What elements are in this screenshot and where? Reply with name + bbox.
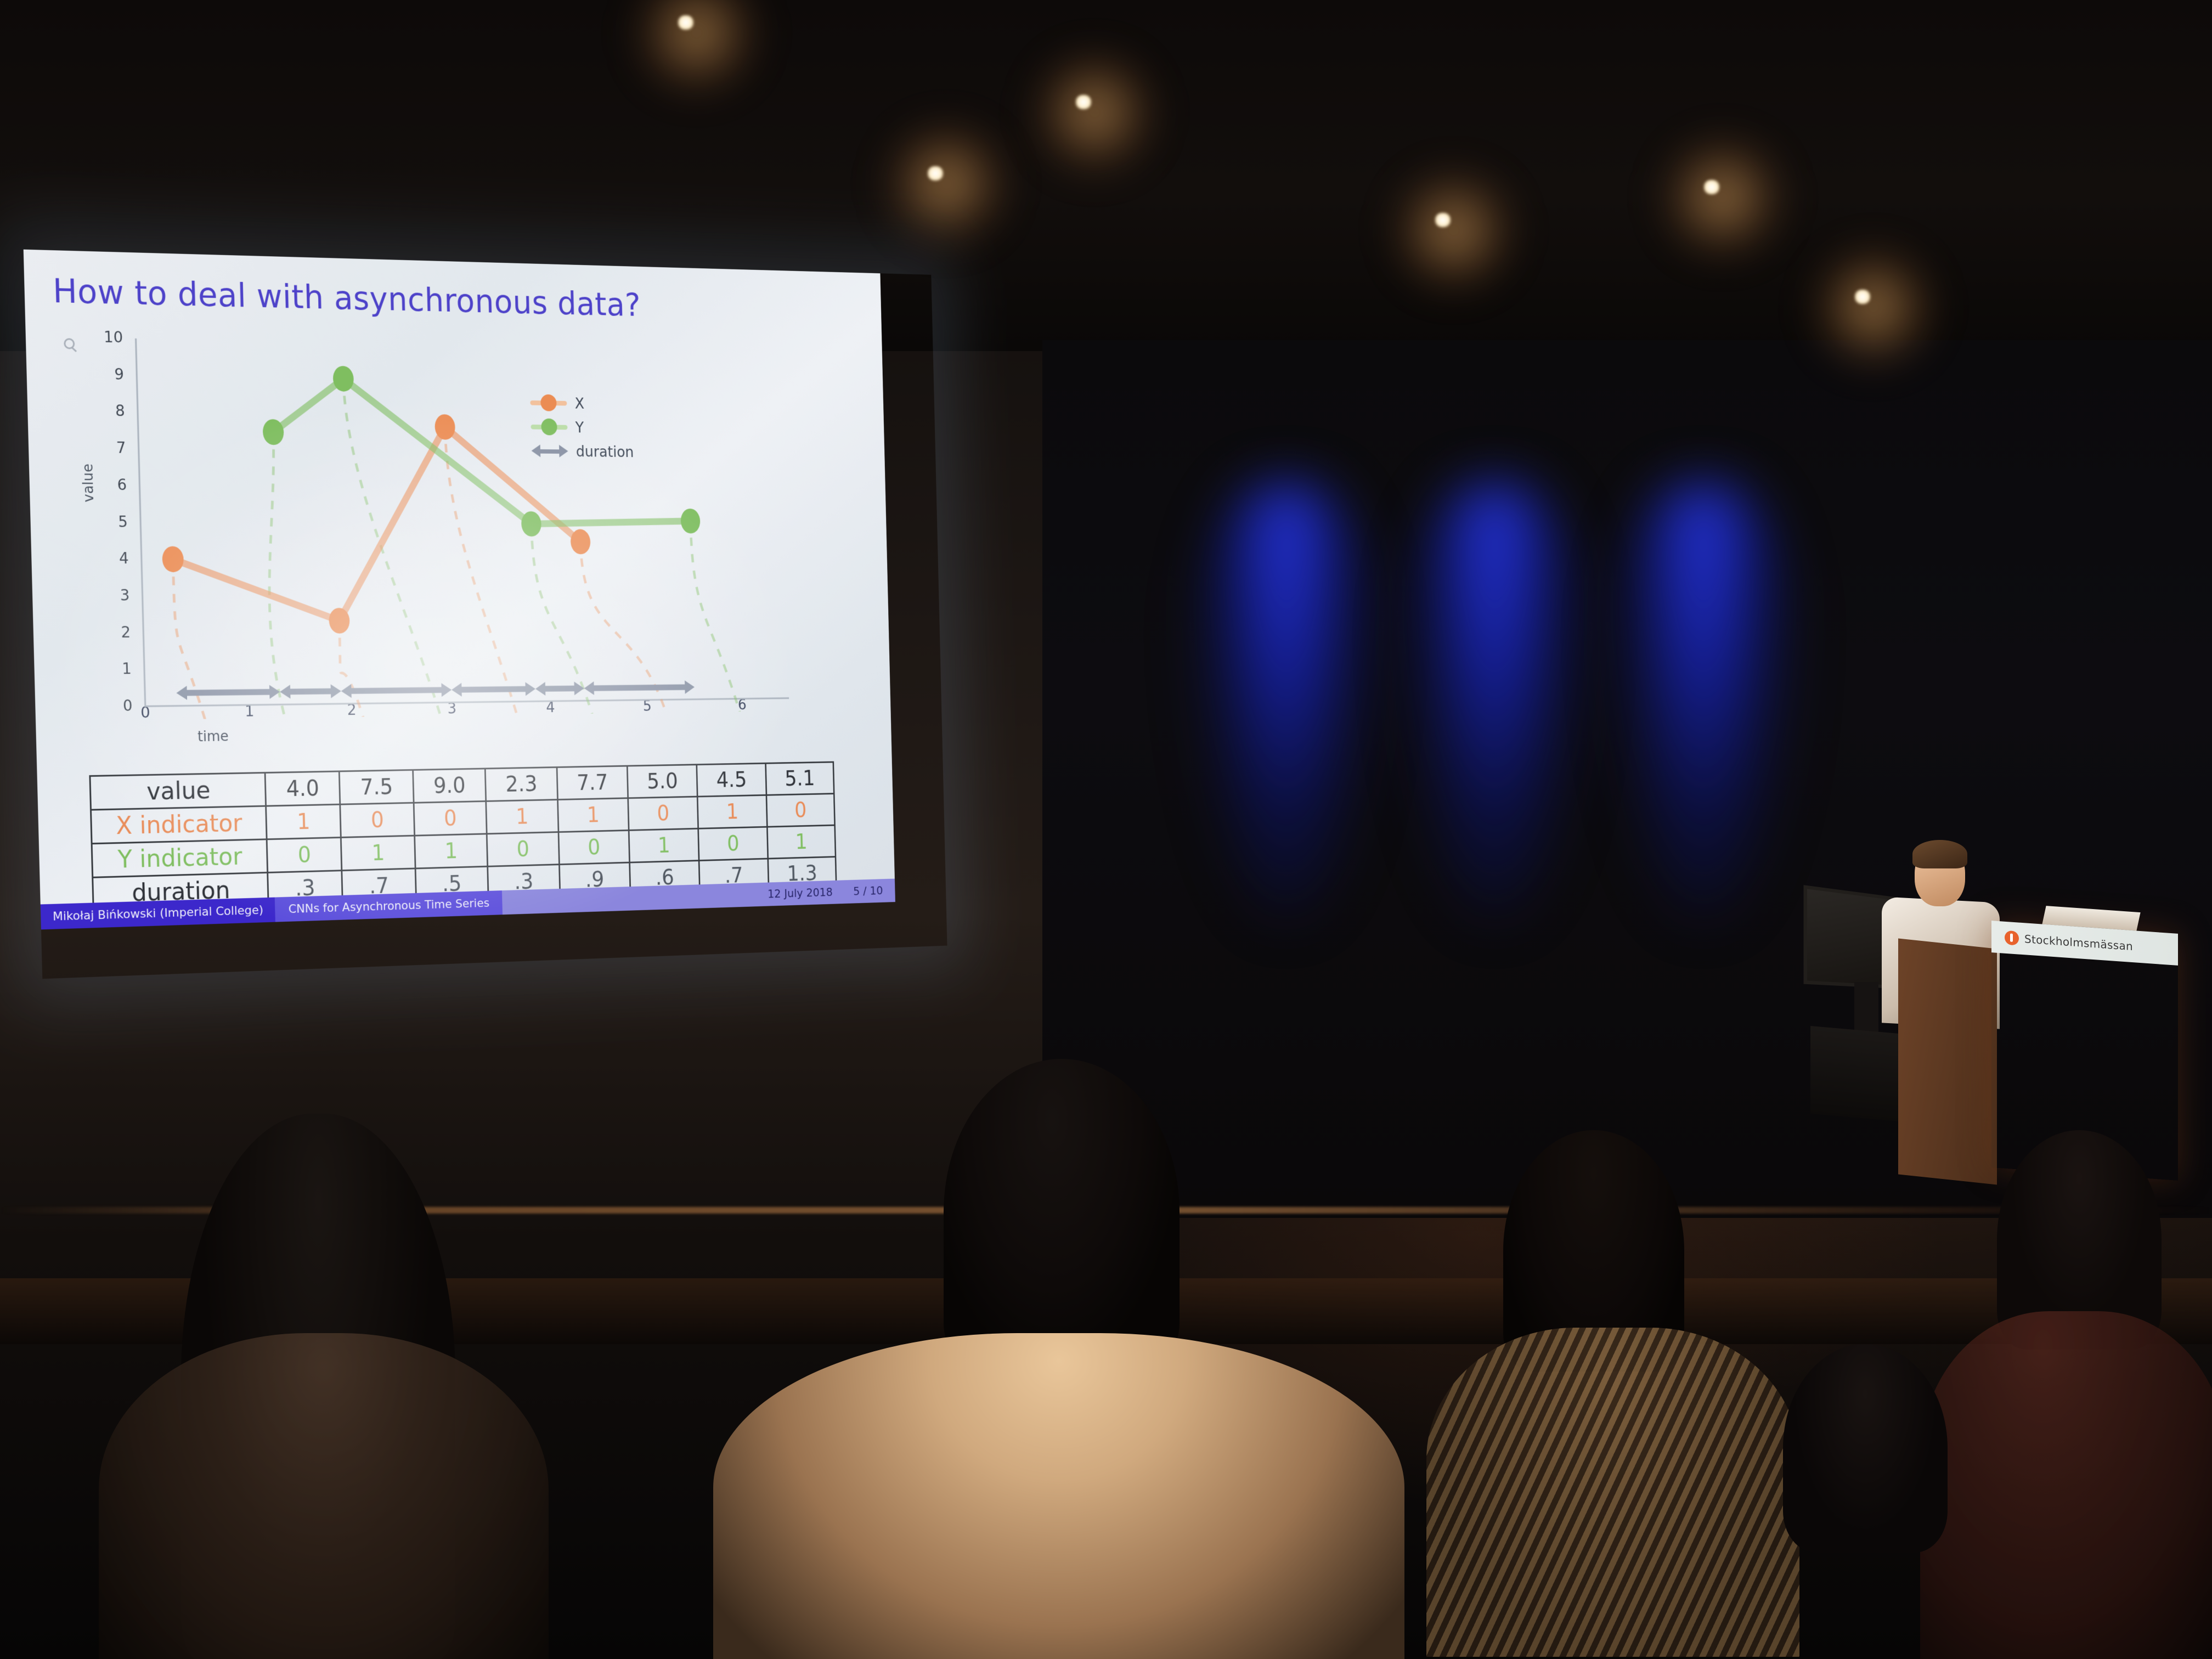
- monitor-stand: [1854, 982, 1878, 1037]
- table-cell: 1: [341, 836, 415, 871]
- legend-label-duration: duration: [576, 443, 634, 460]
- page-title: How to deal with asynchronous data?: [52, 272, 641, 324]
- table-cell: 0: [487, 832, 559, 867]
- duration-arrow-icon: [531, 444, 568, 458]
- legend-item-x: X: [530, 391, 633, 416]
- table-cell: 0: [628, 797, 698, 830]
- table-cell: 1: [767, 825, 836, 859]
- legend-item-duration: duration: [531, 439, 634, 464]
- chart-legend: X Y duration: [530, 391, 634, 464]
- table-cell: 4.5: [697, 763, 766, 797]
- x-axis-label: time: [198, 729, 229, 745]
- audience-member-3-shoulders: [1426, 1328, 1799, 1657]
- table-cell: 0: [267, 837, 342, 872]
- table-cell: 0: [698, 827, 768, 860]
- table-cell: 9.0: [413, 769, 486, 803]
- legend-label-x: X: [574, 394, 584, 412]
- table-cell: 2.3: [485, 767, 557, 801]
- table-cell: 5.1: [765, 762, 834, 795]
- podium-side-panel: [1898, 939, 1997, 1185]
- audience-member-5: [1783, 1344, 1948, 1553]
- legend-label-y: Y: [575, 419, 584, 436]
- ceiling-light-5: [1693, 165, 1730, 210]
- footer-date: 12 July 2018: [768, 886, 833, 901]
- table-cell: 7.7: [557, 766, 628, 799]
- venue-logo-icon: [2005, 930, 2019, 946]
- table-cell: 1: [557, 798, 629, 832]
- ceiling-light-6: [1844, 274, 1881, 319]
- table-cell: 1: [629, 828, 699, 862]
- ceiling-light-4: [1424, 198, 1462, 242]
- table-cell: 0: [340, 803, 414, 837]
- legend-swatch-x: [530, 400, 567, 405]
- table-cell: 0: [414, 801, 487, 836]
- audience-member-1-shoulders: [99, 1333, 549, 1659]
- ceiling-light-2: [1065, 80, 1102, 125]
- venue-name: Stockholmsmässan: [2024, 932, 2133, 953]
- speaker-hair: [1912, 840, 1967, 868]
- table-row-label: X indicator: [91, 806, 267, 844]
- chart-figure: value 012345678910 0123456 time X Y: [72, 322, 848, 765]
- table-row-label: value: [90, 772, 266, 810]
- footer-page-number: 5 / 10: [853, 884, 883, 898]
- legend-item-y: Y: [531, 415, 634, 440]
- table-cell: 4.0: [265, 771, 340, 806]
- table-cell: 1: [697, 795, 767, 828]
- projection-screen: How to deal with asynchronous data? valu…: [33, 250, 1026, 979]
- table-row-label: Y indicator: [92, 839, 268, 878]
- chart-plot-area: [72, 322, 847, 721]
- table-cell: 5.0: [627, 765, 697, 798]
- table-cell: 7.5: [340, 770, 414, 804]
- audience-member-4-shoulders: [1920, 1311, 2212, 1659]
- audience-member-2-shoulders: [713, 1333, 1404, 1659]
- table-cell: 1: [414, 834, 487, 868]
- table-cell: 1: [266, 804, 341, 839]
- presentation-slide: How to deal with asynchronous data? valu…: [24, 250, 895, 930]
- ceiling-light-1: [667, 0, 704, 45]
- table-cell: 0: [558, 830, 630, 864]
- audience-member-2: [944, 1059, 1180, 1366]
- table-cell: 1: [486, 800, 558, 834]
- footer-author: Mikołaj Bińkowski (Imperial College): [41, 898, 275, 930]
- legend-swatch-y: [531, 424, 567, 429]
- ceiling-light-3: [917, 151, 954, 196]
- table-cell: 0: [766, 794, 835, 827]
